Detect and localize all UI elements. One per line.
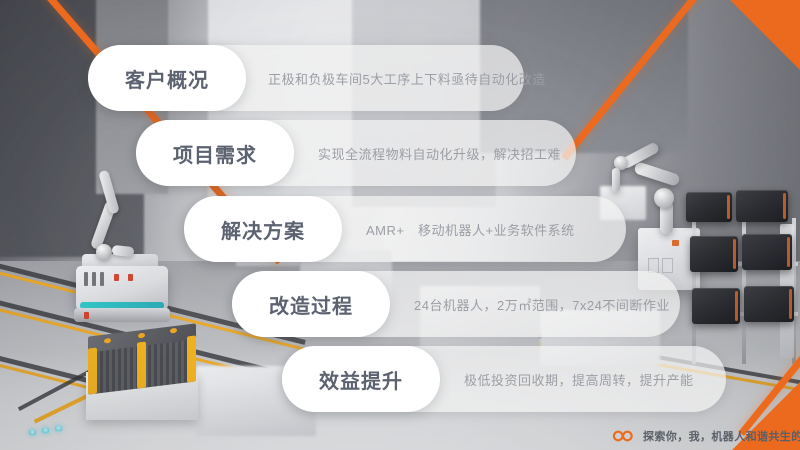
footer-tagline: 探索你，我，机器人和谐共生的世界 [643,428,800,444]
row-customer-overview[interactable]: 客户概况 正极和负极车间5大工序上下料亟待自动化改造 [88,45,546,111]
footer: 探索你，我，机器人和谐共生的世界 [612,428,800,444]
row-label-pill[interactable]: 改造过程 [232,271,390,337]
row-label-text: 解决方案 [221,215,305,244]
row-benefit-improvement[interactable]: 效益提升 极低投资回收期，提高周转，提升产能 [282,346,694,412]
row-solution[interactable]: 解决方案 AMR+ 移动机器人+业务软件系统 [184,196,575,262]
slide-root: 客户概况 正极和负极车间5大工序上下料亟待自动化改造 项目需求 实现全流程物料自… [0,0,800,450]
row-description: 极低投资回收期，提高周转，提升产能 [464,370,694,389]
row-description: AMR+ 移动机器人+业务软件系统 [366,220,575,239]
row-label-text: 改造过程 [269,290,353,319]
row-label-pill[interactable]: 效益提升 [282,346,440,412]
row-description: 实现全流程物料自动化升级，解决招工难 [318,144,561,163]
row-transformation-process[interactable]: 改造过程 24台机器人，2万㎡范围，7x24不间断作业 [232,271,670,337]
row-label-text: 客户概况 [125,64,209,93]
content-rows: 客户概况 正极和负极车间5大工序上下料亟待自动化改造 项目需求 实现全流程物料自… [0,0,800,450]
row-label-text: 效益提升 [319,365,403,394]
infinity-logo-icon [612,430,634,442]
row-label-pill[interactable]: 客户概况 [88,45,246,111]
row-label-text: 项目需求 [173,139,257,168]
row-project-requirement[interactable]: 项目需求 实现全流程物料自动化升级，解决招工难 [136,120,561,186]
row-description: 正极和负极车间5大工序上下料亟待自动化改造 [268,69,546,88]
row-label-pill[interactable]: 解决方案 [184,196,342,262]
row-label-pill[interactable]: 项目需求 [136,120,294,186]
row-description: 24台机器人，2万㎡范围，7x24不间断作业 [414,295,670,314]
